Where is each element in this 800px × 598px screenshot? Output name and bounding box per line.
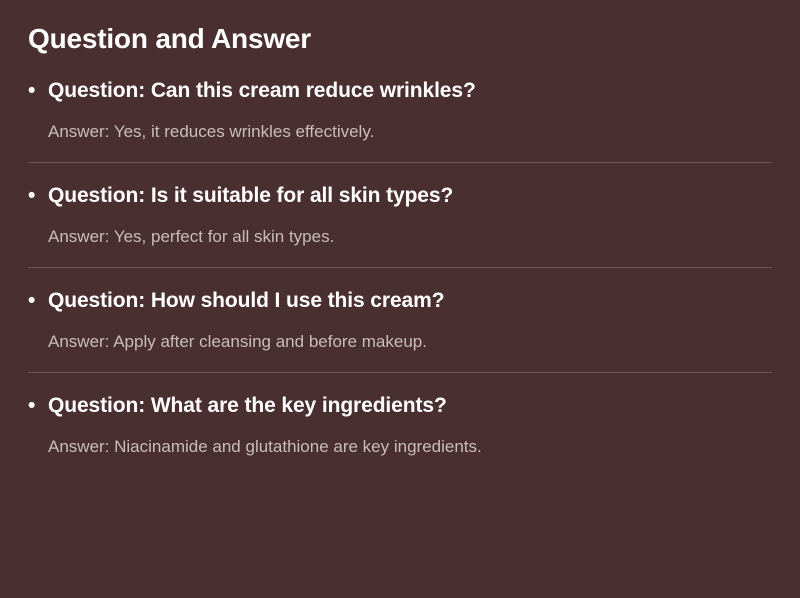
bullet-icon: • [28,393,44,419]
qa-panel: Question and Answer • Question: Can this… [0,0,800,598]
bullet-icon: • [28,288,44,314]
qa-list: • Question: Can this cream reduce wrinkl… [28,78,772,458]
qa-question: • Question: Can this cream reduce wrinkl… [28,78,772,104]
qa-answer: Answer: Yes, it reduces wrinkles effecti… [28,121,772,143]
qa-item: • Question: What are the key ingredients… [28,372,772,458]
qa-question: • Question: What are the key ingredients… [28,393,772,419]
qa-question-text: Question: How should I use this cream? [48,289,444,312]
qa-answer: Answer: Niacinamide and glutathione are … [28,436,772,458]
qa-item: • Question: Is it suitable for all skin … [28,162,772,248]
qa-answer: Answer: Apply after cleansing and before… [28,331,772,353]
bullet-icon: • [28,78,44,104]
qa-question-text: Question: What are the key ingredients? [48,394,447,417]
qa-question: • Question: How should I use this cream? [28,288,772,314]
qa-item: • Question: How should I use this cream?… [28,267,772,353]
qa-answer: Answer: Yes, perfect for all skin types. [28,226,772,248]
page-title: Question and Answer [28,22,772,56]
qa-item: • Question: Can this cream reduce wrinkl… [28,78,772,143]
qa-question-text: Question: Is it suitable for all skin ty… [48,184,453,207]
qa-question: • Question: Is it suitable for all skin … [28,183,772,209]
qa-question-text: Question: Can this cream reduce wrinkles… [48,79,476,102]
bullet-icon: • [28,183,44,209]
